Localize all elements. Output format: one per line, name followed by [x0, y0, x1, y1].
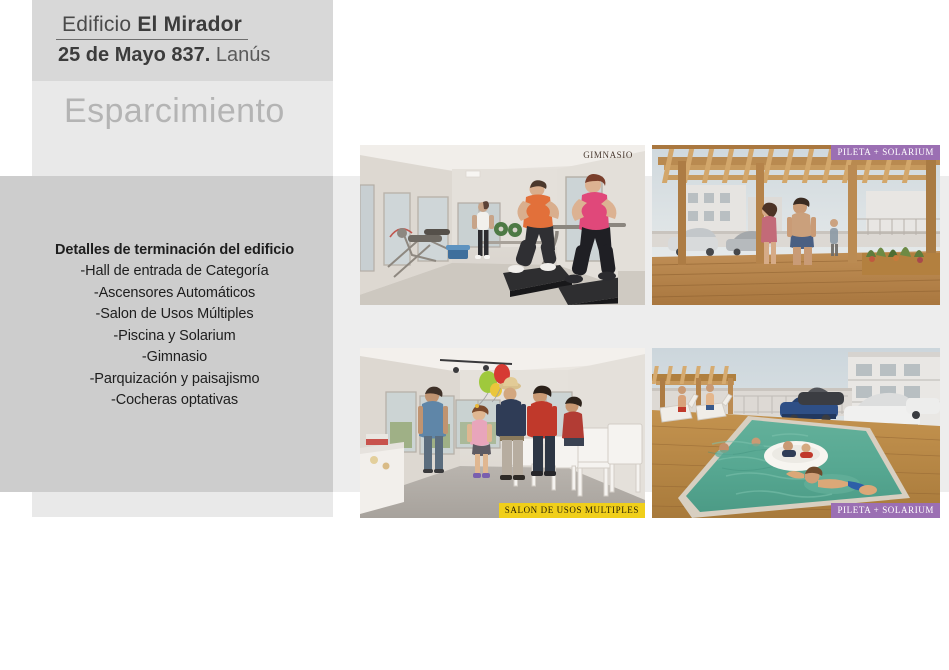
list-item: -Cocheras optativas: [16, 390, 333, 411]
background-bottom-white: [0, 517, 949, 670]
building-name-line: Edificio El Mirador: [56, 12, 248, 40]
photo-pileta-solarium-bottom: PILETA + SOLARIUM: [652, 348, 940, 518]
photo-caption-gimnasio: GIMNASIO: [577, 148, 639, 163]
photo-caption-pileta-top: PILETA + SOLARIUM: [831, 145, 940, 160]
photo-caption-pileta-bottom: PILETA + SOLARIUM: [831, 503, 940, 518]
list-item: -Parquización y paisajismo: [16, 369, 333, 390]
list-item: -Salon de Usos Múltiples: [16, 304, 333, 325]
pool-illustration: [652, 348, 940, 518]
photo-gimnasio: GIMNASIO: [360, 145, 645, 305]
list-item: -Piscina y Solarium: [16, 326, 333, 347]
building-address-line: 25 de Mayo 837. Lanús: [56, 43, 333, 68]
building-title-prefix: Edificio: [62, 13, 137, 36]
address-street: 25 de Mayo 837.: [58, 44, 210, 66]
building-title-name: El Mirador: [137, 13, 242, 36]
page-title: Esparcimiento: [64, 92, 285, 131]
list-item: -Ascensores Automáticos: [16, 283, 333, 304]
photo-salon-usos-multiples: SALON DE USOS MULTIPLES: [360, 348, 645, 518]
background-lower-strip: [32, 492, 333, 517]
presentation-slide: Edificio El Mirador 25 de Mayo 837. Lanú…: [0, 0, 949, 670]
list-item: -Gimnasio: [16, 347, 333, 368]
sum-illustration: [360, 348, 645, 518]
photo-caption-salon: SALON DE USOS MULTIPLES: [499, 503, 645, 518]
photo-pileta-solarium-top: PILETA + SOLARIUM: [652, 145, 940, 305]
details-list: Detalles de terminación del edificio -Ha…: [16, 240, 333, 412]
list-item: -Hall de entrada de Categoría: [16, 261, 333, 282]
address-city: Lanús: [210, 44, 270, 66]
solarium-illustration: [652, 145, 940, 305]
gym-illustration: [360, 145, 645, 305]
building-title: Edificio El Mirador 25 de Mayo 837. Lanú…: [32, 12, 333, 68]
details-heading: Detalles de terminación del edificio: [16, 240, 333, 261]
